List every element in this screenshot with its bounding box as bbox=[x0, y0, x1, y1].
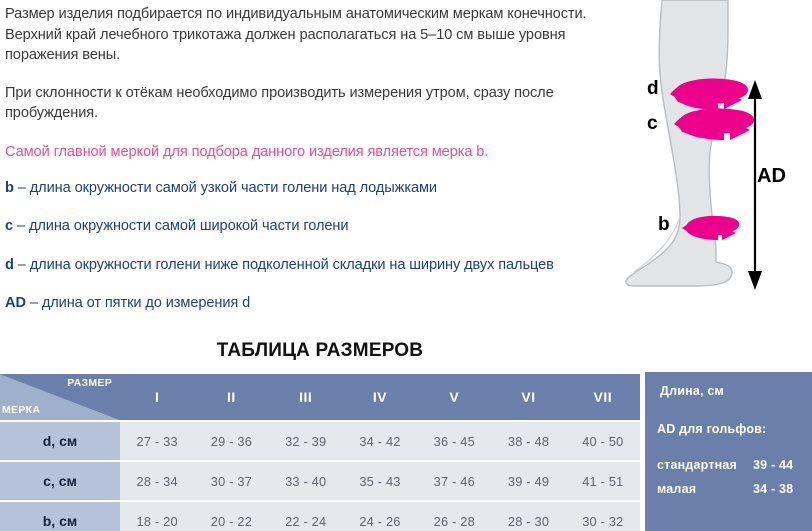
definition-c: c – длина окружности самой широкой части… bbox=[5, 216, 605, 237]
definition-d: d – длина окружности голени ниже подколе… bbox=[5, 255, 605, 276]
definition-key-b: b bbox=[5, 180, 14, 196]
length-row-standard-name: стандартная bbox=[657, 458, 753, 472]
cell-c-1: 28 - 34 bbox=[120, 462, 194, 500]
cell-b-3: 22 - 24 bbox=[269, 502, 343, 531]
size-guide-page: Размер изделия подбирается по индивидуал… bbox=[0, 0, 812, 531]
diagram-label-ad: AD bbox=[757, 165, 786, 188]
cell-b-6: 28 - 30 bbox=[491, 502, 565, 531]
length-panel-subtitle: AD для гольфов: bbox=[657, 422, 812, 436]
definition-text-b: длина окружности самой узкой части голен… bbox=[30, 180, 437, 196]
cell-c-4: 35 - 43 bbox=[343, 462, 417, 500]
definition-b: b – длина окружности самой узкой части г… bbox=[5, 178, 605, 199]
table-row: b, см 18 - 20 20 - 22 22 - 24 24 - 26 26… bbox=[0, 502, 640, 531]
description-column: Размер изделия подбирается по индивидуал… bbox=[5, 4, 605, 314]
table-row: d, см 27 - 33 29 - 36 32 - 39 34 - 42 36… bbox=[0, 422, 640, 460]
table-row: с, см 28 - 34 30 - 37 33 - 40 35 - 43 37… bbox=[0, 462, 640, 500]
column-header-1: I bbox=[120, 374, 194, 420]
size-table-head: РАЗМЕР МЕРКА I II III IV V VI VII bbox=[0, 374, 640, 420]
cell-b-1: 18 - 20 bbox=[120, 502, 194, 531]
cell-b-2: 20 - 22 bbox=[194, 502, 268, 531]
definition-dash-ad: – bbox=[26, 295, 42, 311]
table-corner-cell: РАЗМЕР МЕРКА bbox=[0, 374, 120, 420]
size-table-wrapper: РАЗМЕР МЕРКА I II III IV V VI VII d, см … bbox=[0, 372, 640, 531]
definition-dash-d: – bbox=[14, 257, 30, 273]
definition-ad: AD – длина от пятки до измерения d bbox=[5, 293, 605, 314]
column-header-6: VI bbox=[491, 374, 565, 420]
column-header-5: V bbox=[417, 374, 491, 420]
definition-key-d: d bbox=[5, 257, 14, 273]
column-header-3: III bbox=[269, 374, 343, 420]
row-label-b: b, см bbox=[0, 502, 120, 531]
highlight-note: Самой главной меркой для подбора данного… bbox=[5, 142, 605, 162]
diagram-label-c: c bbox=[647, 113, 658, 135]
row-label-d: d, см bbox=[0, 422, 120, 460]
cell-c-3: 33 - 40 bbox=[269, 462, 343, 500]
row-label-c: с, см bbox=[0, 462, 120, 500]
diagram-label-d: d bbox=[647, 78, 659, 100]
leg-diagram: d c b AD bbox=[600, 0, 812, 330]
length-row-standard-value: 39 - 44 bbox=[753, 458, 808, 472]
cell-c-5: 37 - 46 bbox=[417, 462, 491, 500]
intro-paragraph-1: Размер изделия подбирается по индивидуал… bbox=[5, 4, 605, 66]
column-header-2: II bbox=[194, 374, 268, 420]
definition-text-d: длина окружности голени ниже подколенной… bbox=[30, 257, 554, 273]
cell-d-4: 34 - 42 bbox=[343, 422, 417, 460]
measurement-definitions: b – длина окружности самой узкой части г… bbox=[5, 178, 605, 314]
definition-text-c: длина окружности самой широкой части гол… bbox=[29, 218, 348, 234]
cell-d-2: 29 - 36 bbox=[194, 422, 268, 460]
length-row-standard: стандартная 39 - 44 bbox=[657, 458, 812, 472]
definition-key-ad: AD bbox=[5, 295, 26, 311]
definition-dash-b: – bbox=[14, 180, 30, 196]
definition-dash-c: – bbox=[13, 218, 29, 234]
cell-c-7: 41 - 51 bbox=[566, 462, 640, 500]
cell-d-1: 27 - 33 bbox=[120, 422, 194, 460]
cell-d-7: 40 - 50 bbox=[566, 422, 640, 460]
length-row-small: малая 34 - 38 bbox=[657, 482, 812, 496]
intro-paragraph-2: При склонности к отёкам необходимо произ… bbox=[5, 83, 605, 124]
column-header-4: IV bbox=[343, 374, 417, 420]
corner-size-label: РАЗМЕР bbox=[67, 377, 112, 389]
cell-d-3: 32 - 39 bbox=[269, 422, 343, 460]
length-info-panel: Длина, см AD для гольфов: стандартная 39… bbox=[645, 372, 812, 531]
definition-text-ad: длина от пятки до измерения d bbox=[42, 295, 250, 311]
length-panel-title: Длина, см bbox=[657, 384, 812, 398]
column-header-7: VII bbox=[566, 374, 640, 420]
leg-silhouette-icon bbox=[626, 0, 732, 286]
cell-d-5: 36 - 45 bbox=[417, 422, 491, 460]
diagram-label-b: b bbox=[658, 214, 670, 236]
size-table-title: ТАБЛИЦА РАЗМЕРОВ bbox=[0, 340, 640, 362]
size-table-body: d, см 27 - 33 29 - 36 32 - 39 34 - 42 36… bbox=[0, 422, 640, 531]
length-row-small-value: 34 - 38 bbox=[753, 482, 808, 496]
cell-b-5: 26 - 28 bbox=[417, 502, 491, 531]
cell-b-4: 24 - 26 bbox=[343, 502, 417, 531]
cell-d-6: 38 - 48 bbox=[491, 422, 565, 460]
cell-b-7: 30 - 32 bbox=[566, 502, 640, 531]
length-row-small-name: малая bbox=[657, 482, 753, 496]
corner-mark-label: МЕРКА bbox=[2, 404, 40, 416]
table-header-row: РАЗМЕР МЕРКА I II III IV V VI VII bbox=[0, 374, 640, 420]
cell-c-6: 39 - 49 bbox=[491, 462, 565, 500]
size-table: РАЗМЕР МЕРКА I II III IV V VI VII d, см … bbox=[0, 372, 640, 531]
cell-c-2: 30 - 37 bbox=[194, 462, 268, 500]
definition-key-c: c bbox=[5, 218, 13, 234]
